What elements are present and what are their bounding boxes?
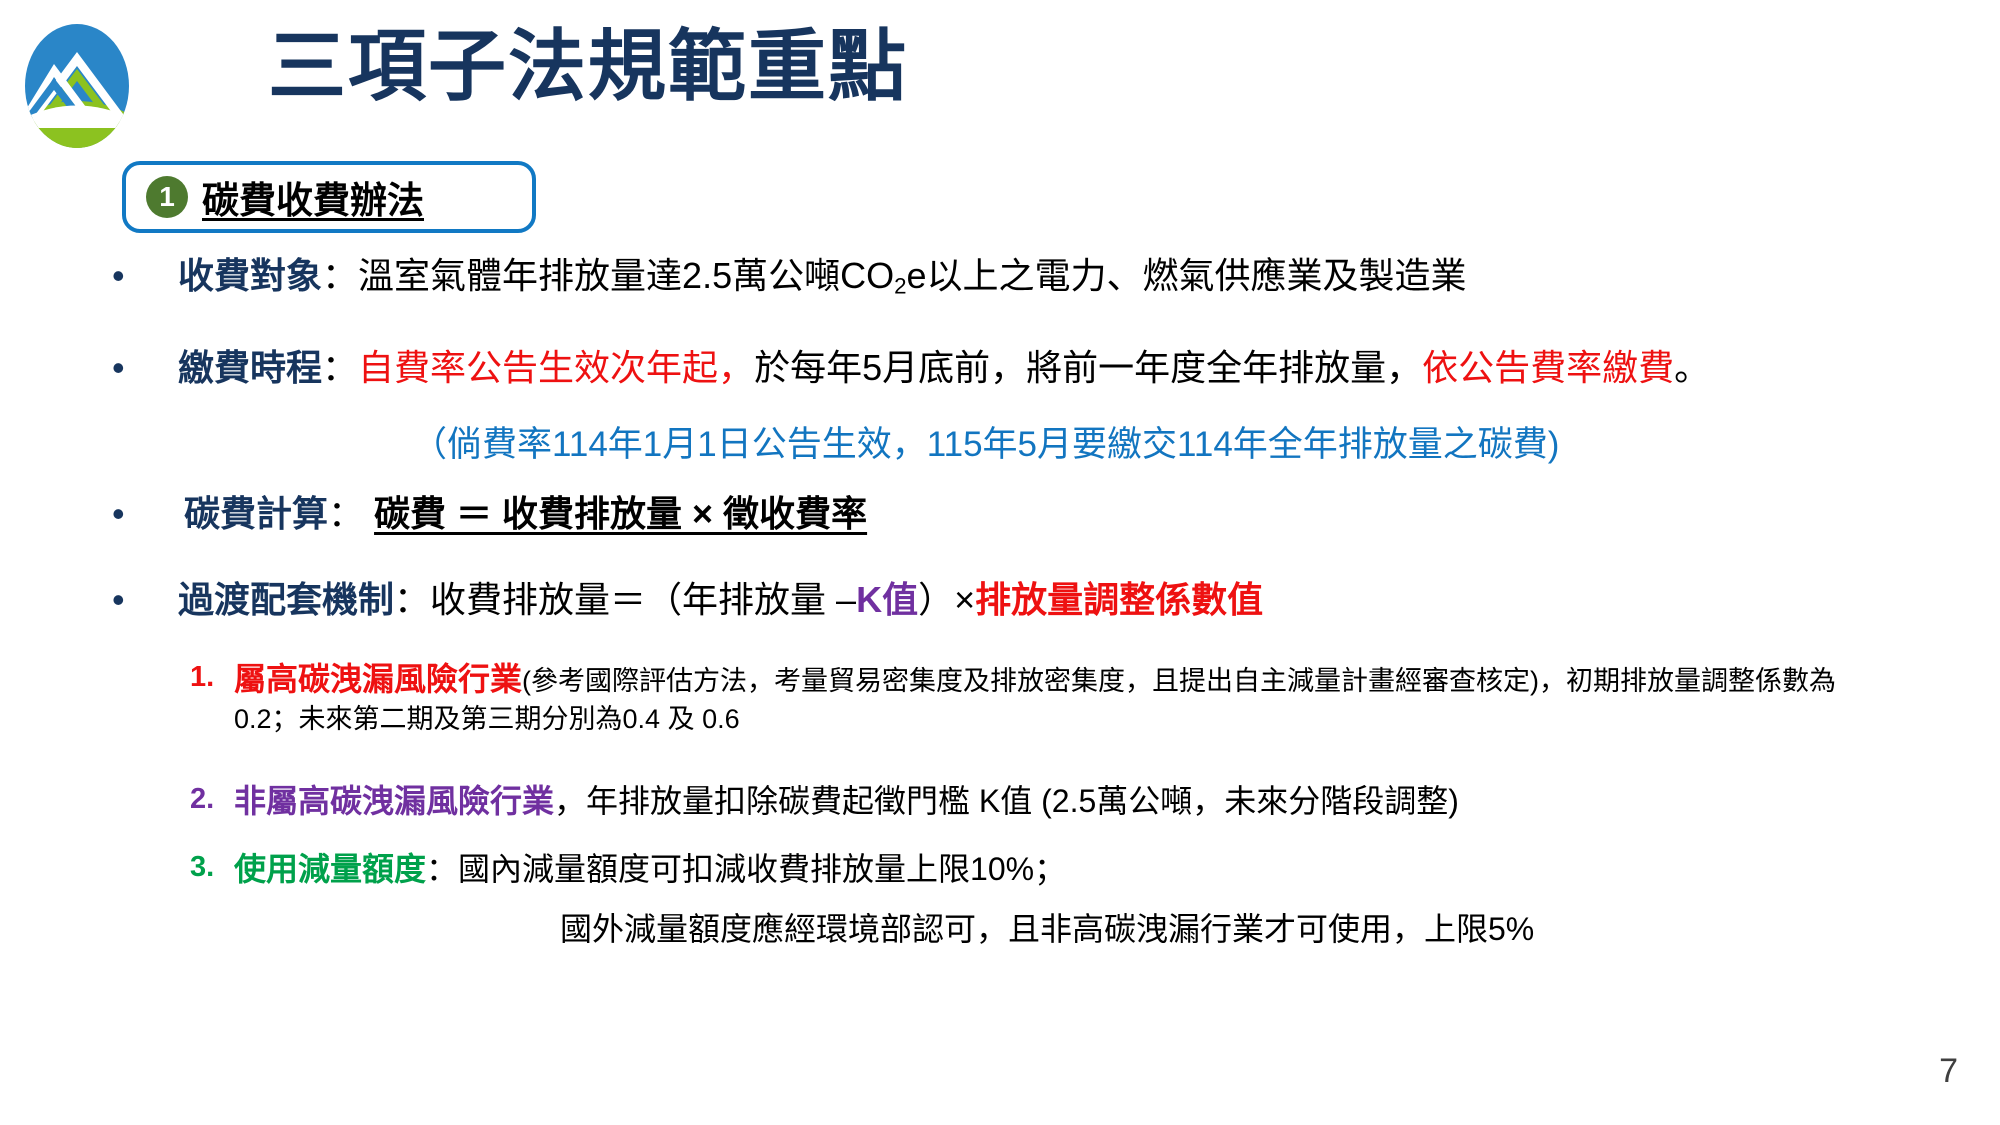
bullet-fee-calculation: • 碳費計算：碳費 ＝ 收費排放量 × 徵收費率 <box>0 496 867 532</box>
co2-subscript: 2 <box>894 274 906 299</box>
numbered-body-1: 屬高碳洩漏風險行業(參考國際評估方法，考量貿易密集度及排放密集度，且提出自主減量… <box>190 658 1890 739</box>
bullet-marker: • <box>112 582 125 618</box>
numbered-body-3: 使用減量額度：國內減量額度可扣減收費排放量上限10%； <box>190 848 1890 890</box>
fee-formula: 碳費 ＝ 收費排放量 × 徵收費率 <box>374 493 867 534</box>
numbered-item-high-carbon-leakage: 1. 屬高碳洩漏風險行業(參考國際評估方法，考量貿易密集度及排放密集度，且提出自… <box>190 658 1890 739</box>
bullet-payment-note: （倘費率114年1月1日公告生效，115年5月要繳交114年全年排放量之碳費) <box>412 416 1559 467</box>
numbered-marker-2: 2. <box>190 780 214 818</box>
bullet-label-transition-mechanism: 過渡配套機制 <box>178 579 394 620</box>
bullet-charge-target: • 收費對象：溫室氣體年排放量達2.5萬公噸CO2e以上之電力、燃氣供應業及製造… <box>0 258 1467 298</box>
k-value-term: K值 <box>856 579 918 620</box>
numbered-highlight-2: 非屬高碳洩漏風險行業 <box>234 783 554 819</box>
section-chip-label: 碳費收費辦法 <box>202 170 424 224</box>
bullet-label-charge-target: 收費對象 <box>178 255 322 296</box>
colon-1: ： <box>322 255 358 296</box>
numbered-item-offset-credits: 3. 使用減量額度：國內減量額度可扣減收費排放量上限10%； <box>190 848 1890 890</box>
numbered-item-3-second-line: 國外減量額度應經環境部認可，且非高碳洩漏行業才可使用，上限5% <box>560 904 1534 950</box>
bullet-payment-schedule: • 繳費時程：自費率公告生效次年起，於每年5月底前，將前一年度全年排放量，依公告… <box>0 350 1710 386</box>
bullet-marker: • <box>112 496 125 532</box>
colon-3: ： <box>328 493 364 534</box>
organization-logo <box>14 22 140 150</box>
bullet-text-payment-black-b: 。 <box>1674 347 1710 388</box>
page-title: 三項子法規範重點 <box>268 22 908 112</box>
numbered-marker-1: 1. <box>190 658 214 696</box>
numbered-highlight-1: 屬高碳洩漏風險行業 <box>234 661 522 697</box>
colon-4: ： <box>394 579 430 620</box>
moenv-mountain-logo <box>14 22 140 150</box>
bullet-marker: • <box>112 350 125 386</box>
emission-adjustment-coefficient-term: 排放量調整係數值 <box>975 579 1263 620</box>
numbered-item-non-high-carbon-leakage: 2. 非屬高碳洩漏風險行業，年排放量扣除碳費起徵門檻 K值 (2.5萬公噸，未來… <box>190 780 1890 822</box>
bullet-text-payment-red-a: 自費率公告生效次年起， <box>358 347 754 388</box>
bullet-text-charge-target-a: 溫室氣體年排放量達2.5萬公噸CO <box>358 255 894 296</box>
colon-2: ： <box>322 347 358 388</box>
bullet-text-charge-target-b: e以上之電力、燃氣供應業及製造業 <box>907 255 1467 296</box>
bullet-text-payment-red-b: 依公告費率繳費 <box>1422 347 1674 388</box>
bullet-label-payment-schedule: 繳費時程 <box>178 347 322 388</box>
numbered-highlight-3: 使用減量額度 <box>234 851 426 887</box>
bullet-text-payment-black-a: 於每年5月底前，將前一年度全年排放量， <box>754 347 1422 388</box>
section-chip-carbon-fee-method: 1 碳費收費辦法 <box>122 161 536 233</box>
bullet-label-fee-calculation: 碳費計算 <box>184 493 328 534</box>
bullet-text-transition-a: 收費排放量＝（年排放量 – <box>430 579 856 620</box>
numbered-body-2: 非屬高碳洩漏風險行業，年排放量扣除碳費起徵門檻 K值 (2.5萬公噸，未來分階段… <box>190 780 1890 822</box>
numbered-rest-3: ：國內減量額度可扣減收費排放量上限10%； <box>426 851 1066 887</box>
numbered-rest-2: ，年排放量扣除碳費起徵門檻 K值 (2.5萬公噸，未來分階段調整) <box>554 783 1459 819</box>
section-number-badge: 1 <box>146 176 188 218</box>
page-number: 7 <box>1939 1052 1958 1091</box>
numbered-marker-3: 3. <box>190 848 214 886</box>
bullet-transition-mechanism: • 過渡配套機制：收費排放量＝（年排放量 –K值）×排放量調整係數值 <box>0 582 1263 618</box>
bullet-text-transition-b: ）× <box>918 579 975 620</box>
bullet-marker: • <box>112 258 125 294</box>
